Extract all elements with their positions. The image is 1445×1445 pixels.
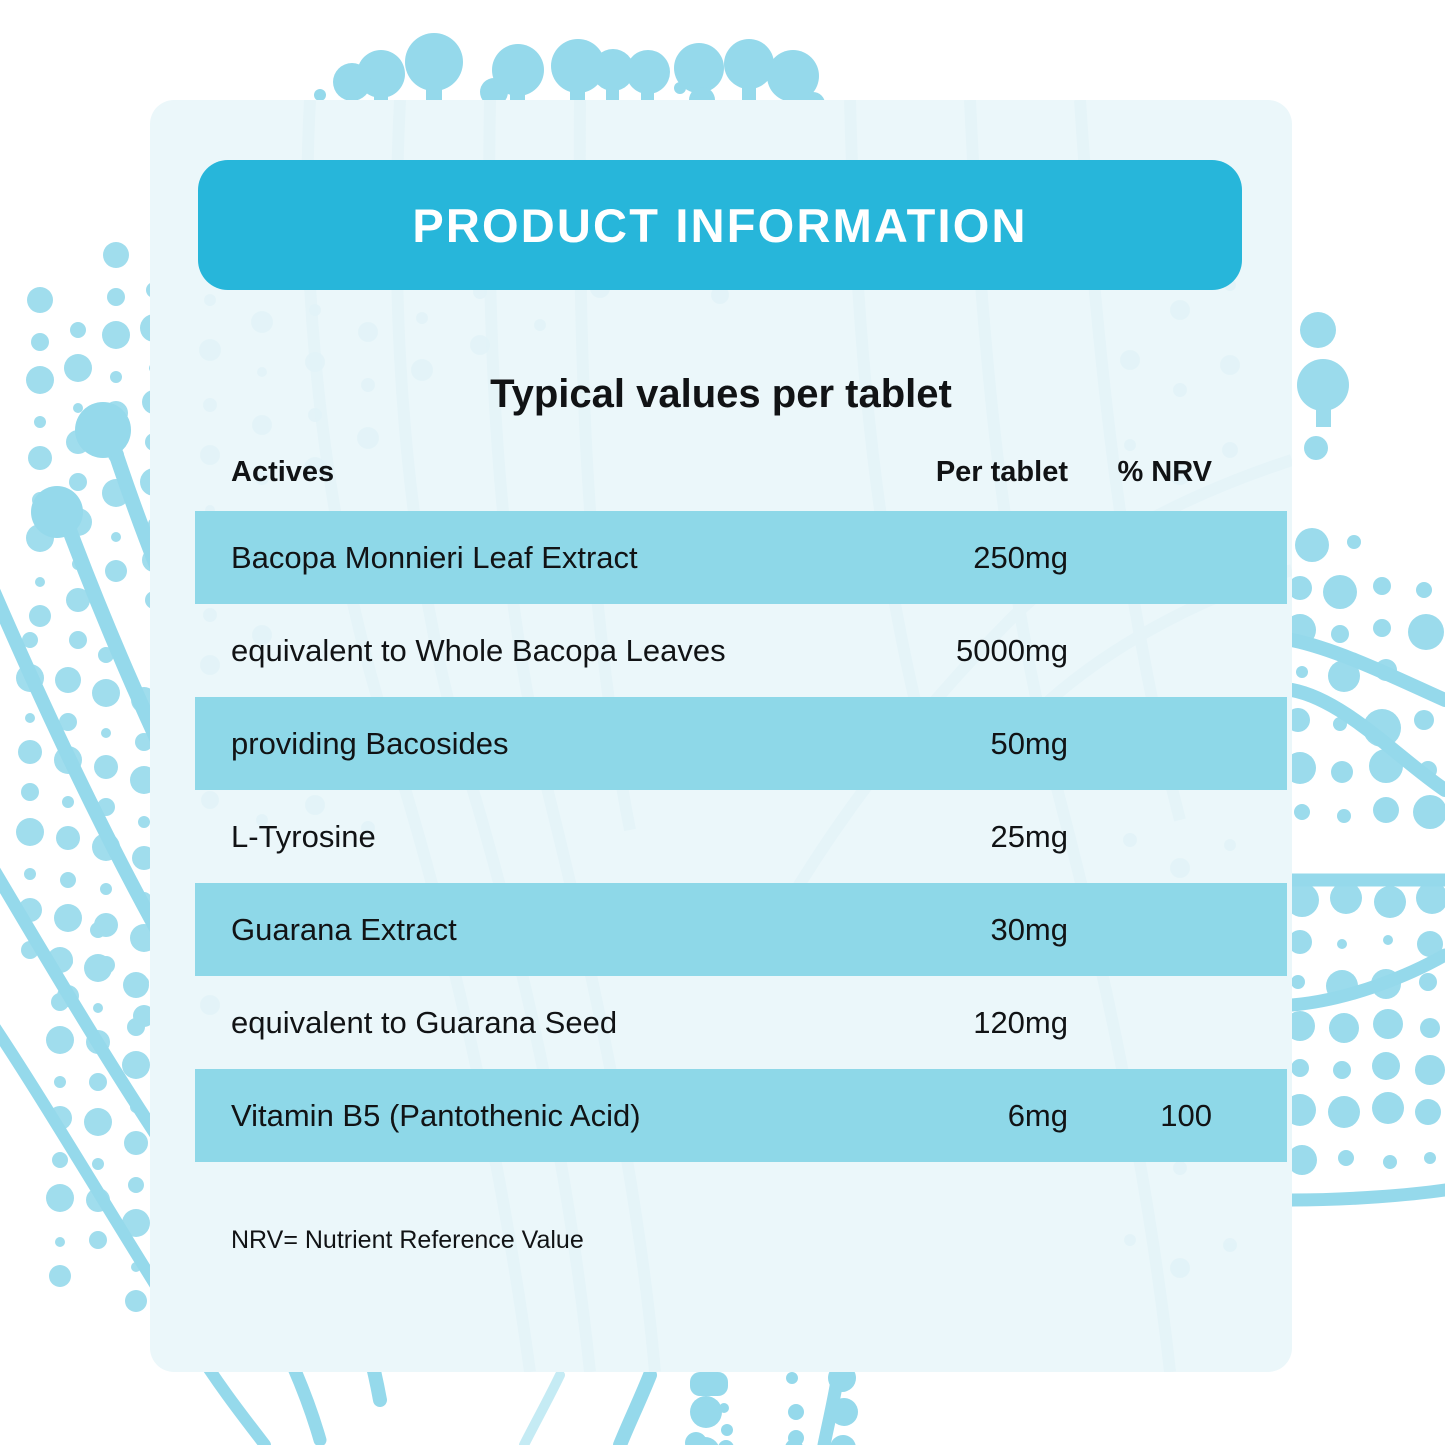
cell-active-name: Guarana Extract	[231, 883, 457, 976]
table-row: L-Tyrosine25mg	[195, 790, 1287, 883]
cell-per-tablet: 25mg	[895, 790, 1068, 883]
cell-nrv	[1084, 976, 1212, 1069]
cell-per-tablet: 6mg	[895, 1069, 1068, 1162]
product-information-banner: PRODUCT INFORMATION	[198, 160, 1242, 290]
cell-active-name: providing Bacosides	[231, 697, 508, 790]
table-body: Bacopa Monnieri Leaf Extract250mgequival…	[195, 511, 1287, 1162]
table-subtitle: Typical values per tablet	[150, 372, 1292, 417]
cell-nrv: 100	[1084, 1069, 1212, 1162]
table-row: Bacopa Monnieri Leaf Extract250mg	[195, 511, 1287, 604]
cell-nrv	[1084, 790, 1212, 883]
cell-active-name: equivalent to Whole Bacopa Leaves	[231, 604, 726, 697]
table-row: providing Bacosides50mg	[195, 697, 1287, 790]
column-header-actives: Actives	[231, 456, 334, 489]
table-row: Guarana Extract30mg	[195, 883, 1287, 976]
cell-nrv	[1084, 511, 1212, 604]
cell-per-tablet: 250mg	[895, 511, 1068, 604]
table-row: Vitamin B5 (Pantothenic Acid)6mg100	[195, 1069, 1287, 1162]
nutrition-table: Actives Per tablet % NRV Bacopa Monnieri…	[195, 450, 1287, 1162]
cell-nrv	[1084, 697, 1212, 790]
column-header-per-tablet: Per tablet	[905, 456, 1068, 489]
column-header-nrv: % NRV	[1084, 456, 1212, 489]
cell-nrv	[1084, 604, 1212, 697]
cell-per-tablet: 5000mg	[895, 604, 1068, 697]
cell-per-tablet: 30mg	[895, 883, 1068, 976]
cell-per-tablet: 120mg	[895, 976, 1068, 1069]
table-row: equivalent to Guarana Seed120mg	[195, 976, 1287, 1069]
table-header-row: Actives Per tablet % NRV	[195, 450, 1287, 510]
product-information-card: PRODUCT INFORMATION Typical values per t…	[150, 100, 1292, 1372]
cell-active-name: L-Tyrosine	[231, 790, 376, 883]
cell-nrv	[1084, 883, 1212, 976]
cell-active-name: Bacopa Monnieri Leaf Extract	[231, 511, 638, 604]
cell-active-name: Vitamin B5 (Pantothenic Acid)	[231, 1069, 641, 1162]
cell-per-tablet: 50mg	[895, 697, 1068, 790]
table-row: equivalent to Whole Bacopa Leaves5000mg	[195, 604, 1287, 697]
cell-active-name: equivalent to Guarana Seed	[231, 976, 617, 1069]
page-title: PRODUCT INFORMATION	[412, 198, 1027, 253]
table-footnote: NRV= Nutrient Reference Value	[231, 1226, 584, 1255]
